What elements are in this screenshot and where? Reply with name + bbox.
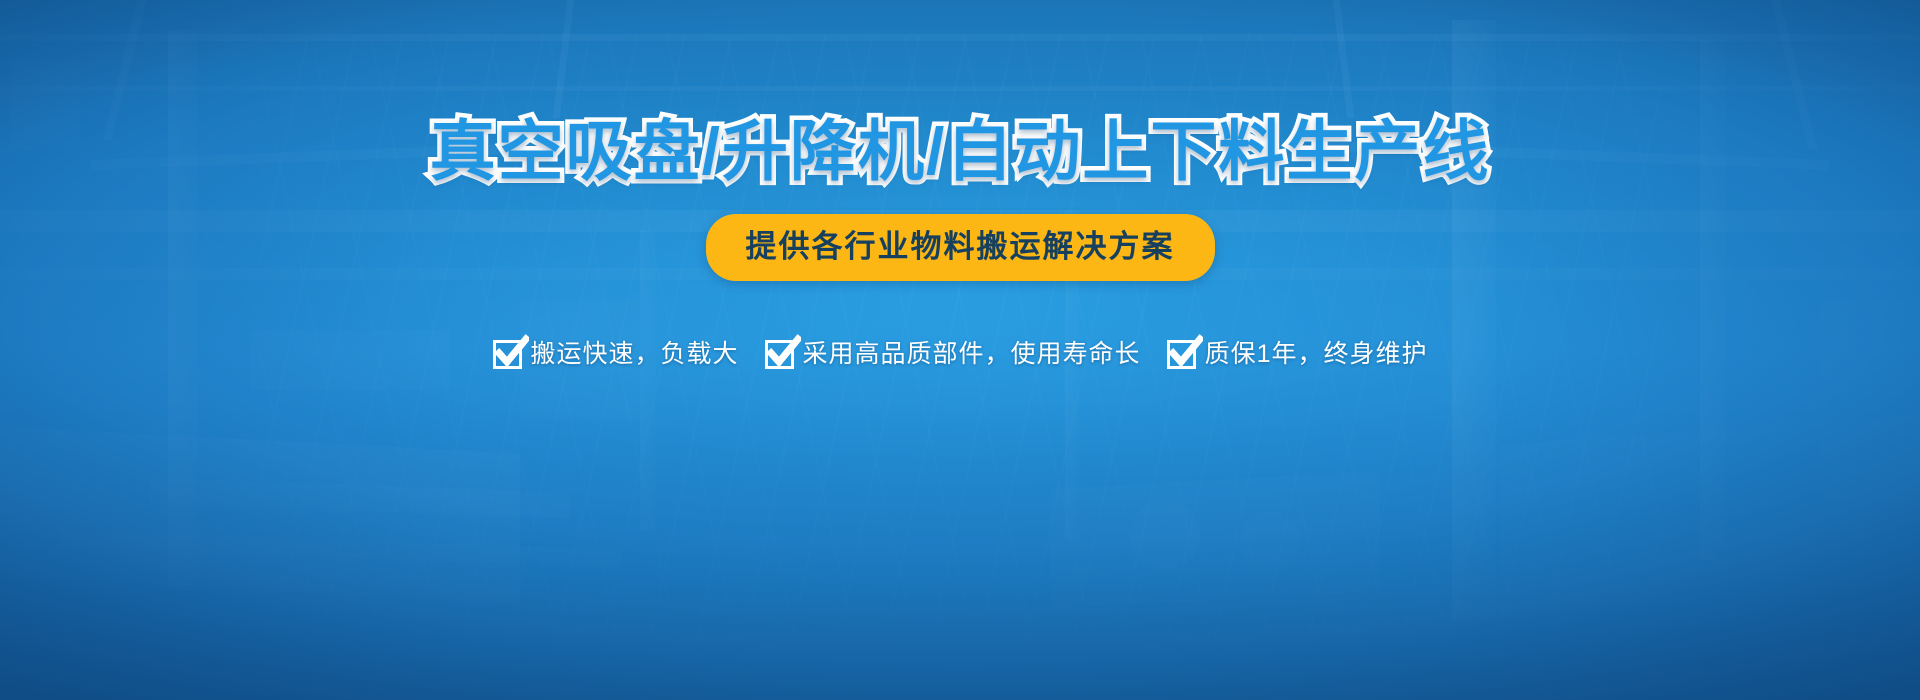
checkbox-check-icon (765, 340, 794, 369)
hero-banner: 真空吸盘/升降机/自动上下料生产线 提供各行业物料搬运解决方案 搬运快速，负载大… (0, 0, 1920, 700)
feature-item-1: 搬运快速，负载大 (493, 340, 739, 369)
feature-item-2: 采用高品质部件，使用寿命长 (765, 340, 1141, 369)
banner-subtitle-pill: 提供各行业物料搬运解决方案 (706, 214, 1215, 281)
banner-headline: 真空吸盘/升降机/自动上下料生产线 (430, 118, 1491, 184)
checkbox-check-icon (1167, 340, 1196, 369)
feature-list: 搬运快速，负载大 采用高品质部件，使用寿命长 质保1年，终身维护 (493, 340, 1428, 369)
checkbox-check-icon (493, 340, 522, 369)
feature-label: 采用高品质部件，使用寿命长 (803, 342, 1141, 367)
feature-item-3: 质保1年，终身维护 (1167, 340, 1428, 369)
banner-content: 真空吸盘/升降机/自动上下料生产线 提供各行业物料搬运解决方案 搬运快速，负载大… (0, 0, 1920, 700)
feature-label: 搬运快速，负载大 (531, 342, 739, 367)
feature-label: 质保1年，终身维护 (1205, 342, 1428, 367)
